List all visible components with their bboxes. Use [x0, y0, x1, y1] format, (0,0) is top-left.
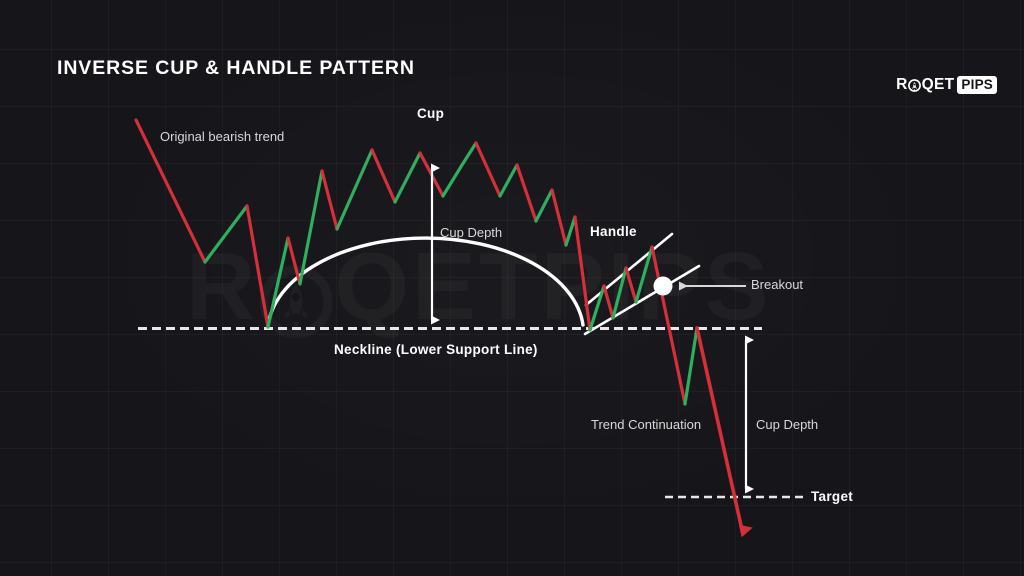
price-zigzag: [136, 120, 697, 404]
label-trend-continuation: Trend Continuation: [591, 417, 701, 432]
segment-bullish: [500, 165, 517, 196]
segment-bullish: [443, 165, 462, 196]
label-neckline: Neckline (Lower Support Line): [334, 342, 538, 357]
label-breakout: Breakout: [751, 277, 803, 292]
segment-bullish: [268, 238, 288, 327]
segment-bearish: [575, 217, 590, 330]
chart-svg: [0, 0, 1024, 576]
label-cup: Cup: [417, 106, 444, 121]
label-handle: Handle: [590, 224, 637, 239]
segment-bearish: [517, 165, 536, 221]
segment-bearish: [552, 190, 566, 245]
segment-bearish: [626, 268, 636, 302]
label-original-trend: Original bearish trend: [160, 129, 284, 144]
segment-bullish: [395, 153, 420, 202]
label-cup-depth-upper: Cup Depth: [440, 225, 502, 240]
segment-bullish: [536, 190, 552, 221]
segment-bearish: [322, 171, 337, 229]
breakout-point-marker[interactable]: [654, 277, 673, 296]
segment-bullish: [685, 328, 697, 404]
chart-canvas: R QET PIPS INVERSE CUP & HANDLE PATTERN …: [0, 0, 1024, 576]
segment-bullish: [636, 247, 652, 302]
segment-bearish: [372, 150, 395, 202]
trend-continuation-arrow: [697, 328, 742, 530]
segment-bearish: [476, 143, 500, 196]
segment-bullish: [205, 206, 247, 262]
label-target: Target: [811, 489, 853, 504]
cup-arc: [268, 238, 583, 326]
segment-bearish: [652, 247, 685, 404]
label-cup-depth-lower: Cup Depth: [756, 417, 818, 432]
segment-bullish: [462, 143, 476, 165]
segment-bearish: [604, 286, 613, 318]
segment-bullish: [566, 217, 575, 245]
segment-bullish: [337, 150, 372, 229]
segment-bearish: [288, 238, 300, 284]
segment-bearish: [247, 206, 268, 327]
